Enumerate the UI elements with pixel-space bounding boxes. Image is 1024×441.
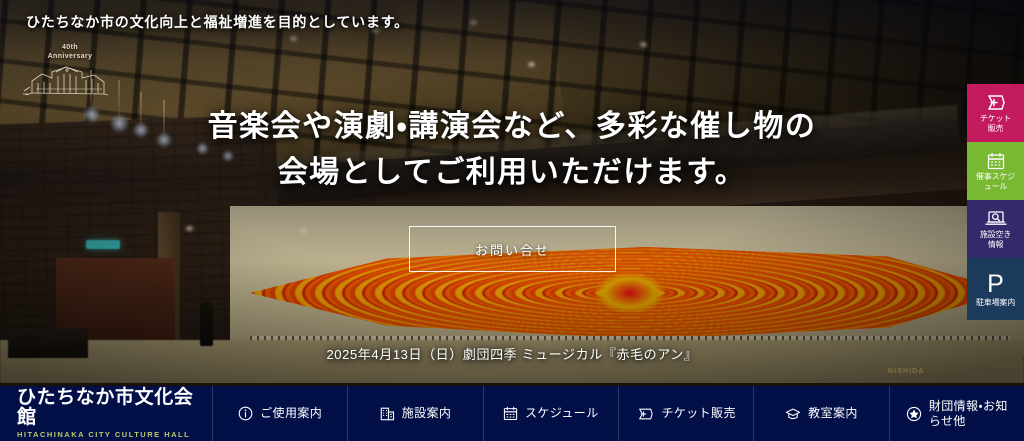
anniversary-word: Anniversary xyxy=(22,53,118,62)
building-icon xyxy=(380,406,395,421)
nav-item-class-guide[interactable]: 教室案内 xyxy=(753,386,888,441)
bottom-navigation-bar: ひたちなか市文化会館 HITACHINAKA CITY CULTURE HALL… xyxy=(0,386,1024,441)
quick-access-sidebar: チケット販売 催事スケジュール xyxy=(967,84,1024,320)
site-logo-japanese: ひたちなか市文化会館 xyxy=(17,388,212,428)
sidebar-button-ticket-sales[interactable]: チケット販売 xyxy=(967,84,1024,142)
nav-item-list: ご使用案内 施設案内 xyxy=(212,386,1024,441)
sidebar-label-event-schedule: 催事スケジュール xyxy=(976,172,1015,192)
sidebar-button-parking[interactable]: P 駐車場案内 xyxy=(967,258,1024,320)
headline-line-1: 音楽会や演劇・講演会など、多彩な催し物の xyxy=(208,110,817,143)
nav-label-foundation-info: 財団情報・お知らせ他 xyxy=(929,399,1008,429)
ticket-plus-icon xyxy=(985,93,1006,112)
star-circle-icon xyxy=(906,406,922,422)
nav-item-usage-guide[interactable]: ご使用案内 xyxy=(212,386,347,441)
nav-item-foundation-info[interactable]: 財団情報・お知らせ他 xyxy=(889,386,1024,441)
site-logo[interactable]: ひたちなか市文化会館 HITACHINAKA CITY CULTURE HALL xyxy=(0,386,212,441)
nav-item-schedule[interactable]: スケジュール xyxy=(483,386,618,441)
building-illustration-icon xyxy=(22,63,118,97)
sidebar-button-facility-availability[interactable]: 施設空き情報 xyxy=(967,200,1024,258)
laptop-search-icon xyxy=(985,209,1007,228)
sidebar-label-facility-availability: 施設空き情報 xyxy=(980,230,1011,250)
nav-label-schedule: スケジュール xyxy=(525,406,599,421)
hero-tagline: ひたちなか市の文化向上と福祉増進を目的としています。 xyxy=(26,12,409,32)
nav-label-class-guide: 教室案内 xyxy=(808,406,858,421)
nav-item-ticket-sales[interactable]: チケット販売 xyxy=(618,386,753,441)
sidebar-label-ticket-sales: チケット販売 xyxy=(980,114,1011,134)
graduation-cap-icon xyxy=(785,407,801,421)
page-root: ひたちなか市の文化向上と福祉増進を目的としています。 40th Annivers… xyxy=(0,0,1024,441)
nav-item-facility-guide[interactable]: 施設案内 xyxy=(347,386,482,441)
info-circle-icon xyxy=(238,406,253,421)
nav-label-facility-guide: 施設案内 xyxy=(402,406,452,421)
ticket-plus-icon xyxy=(636,407,654,421)
calendar-icon xyxy=(987,151,1005,170)
hero-headline: 音楽会や演劇・講演会など、多彩な催し物の 会場としてご利用いただけます。 xyxy=(0,104,1024,196)
hero-caption: 2025年4月13日（日）劇団四季 ミュージカル『赤毛のアン』 xyxy=(0,344,1024,363)
nav-label-usage-guide: ご使用案内 xyxy=(260,406,322,421)
headline-line-2: 会場としてご利用いただけます。 xyxy=(0,150,1024,196)
anniversary-years: 40th xyxy=(22,44,118,53)
site-logo-english: HITACHINAKA CITY CULTURE HALL xyxy=(17,430,212,439)
calendar-icon xyxy=(503,406,518,421)
contact-button[interactable]: お問い合せ xyxy=(409,226,616,272)
anniversary-logo: 40th Anniversary xyxy=(22,44,118,106)
sidebar-label-parking: 駐車場案内 xyxy=(976,298,1015,308)
sidebar-button-event-schedule[interactable]: 催事スケジュール xyxy=(967,142,1024,200)
nav-label-ticket-sales: チケット販売 xyxy=(661,406,735,421)
parking-p-icon: P xyxy=(987,272,1004,296)
contact-button-label: お問い合せ xyxy=(475,240,550,259)
photo-watermark: NISHIDA xyxy=(888,368,924,375)
